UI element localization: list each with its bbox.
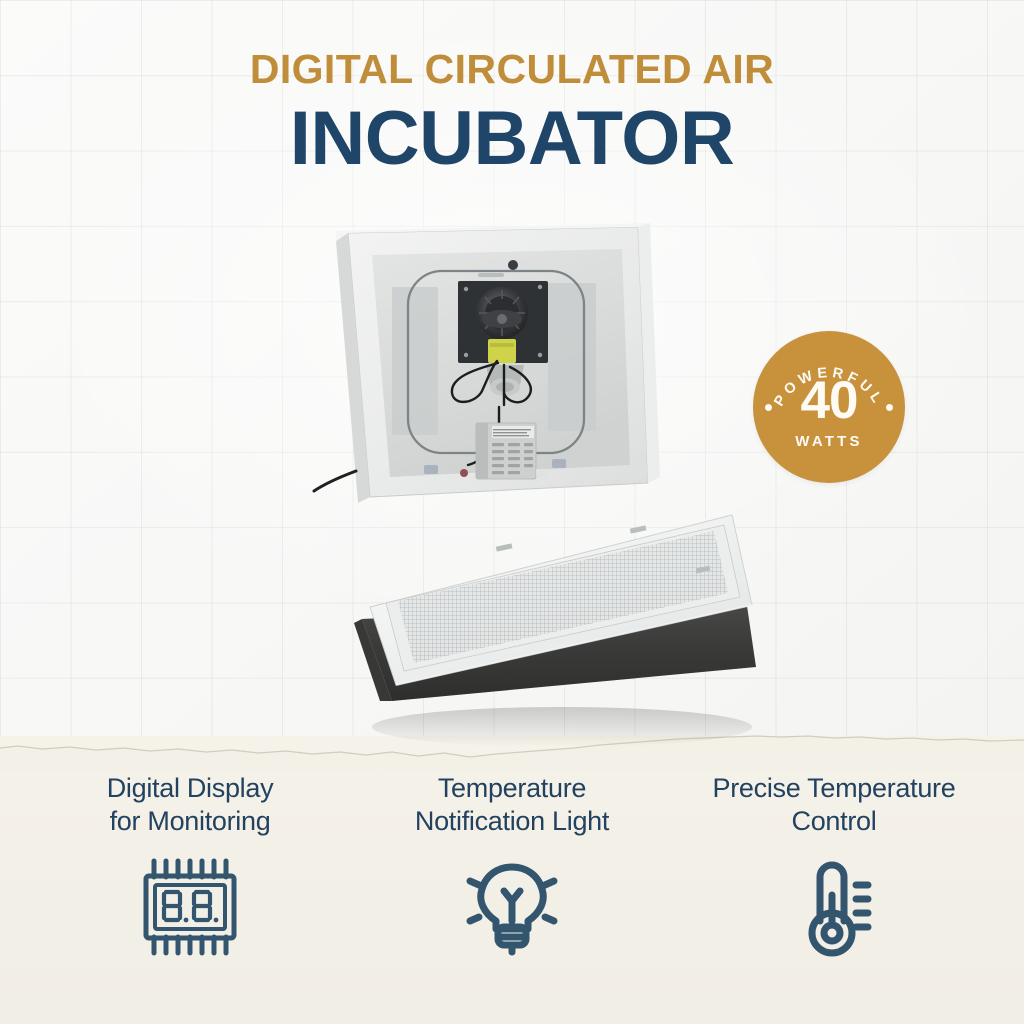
capacitor [488, 339, 516, 363]
feature-label-line1: Precise Temperature [713, 772, 956, 805]
terminal-block-right [552, 459, 566, 468]
feature-label-line2: Notification Light [415, 805, 609, 838]
page-title: INCUBATOR [0, 99, 1024, 179]
feature-label-line1: Temperature [415, 772, 609, 805]
feature-digital-display: Digital Display for Monitoring [34, 772, 346, 960]
feature-label: Digital Display for Monitoring [107, 772, 274, 838]
power-cord [314, 471, 356, 491]
lightbulb-icon [460, 854, 564, 960]
feature-label-line1: Digital Display [107, 772, 274, 805]
incubator-lid [314, 223, 660, 503]
vent-hole [508, 260, 518, 270]
power-badge: POWERFUL 40 WATTS [753, 331, 905, 483]
terminal-block-left [424, 465, 438, 474]
thermometer-icon [782, 854, 886, 960]
sensor-module [476, 423, 536, 479]
feature-notification-light: Temperature Notification Light [356, 772, 668, 960]
feature-list: Digital Display for Monitoring [0, 772, 1024, 960]
badge-value: 40 [753, 374, 905, 427]
feature-temperature-control: Precise Temperature Control [678, 772, 990, 960]
product-image [300, 215, 800, 755]
feature-label: Precise Temperature Control [713, 772, 956, 838]
indicator-light [460, 469, 468, 477]
kicker-text: DIGITAL CIRCULATED AIR [0, 48, 1024, 91]
badge-unit: WATTS [753, 434, 905, 449]
marketing-image-canvas: DIGITAL CIRCULATED AIR INCUBATOR [0, 0, 1024, 1024]
feature-label-line2: for Monitoring [107, 805, 274, 838]
incubator-base-tray [354, 515, 756, 701]
seven-segment-display-chip-icon [138, 854, 242, 960]
reflector-panel-right [548, 283, 596, 431]
feature-label-line2: Control [713, 805, 956, 838]
title-block: DIGITAL CIRCULATED AIR INCUBATOR [0, 48, 1024, 179]
reflector-panel-left [392, 287, 438, 435]
feature-label: Temperature Notification Light [415, 772, 609, 838]
product-shadow [372, 707, 752, 747]
